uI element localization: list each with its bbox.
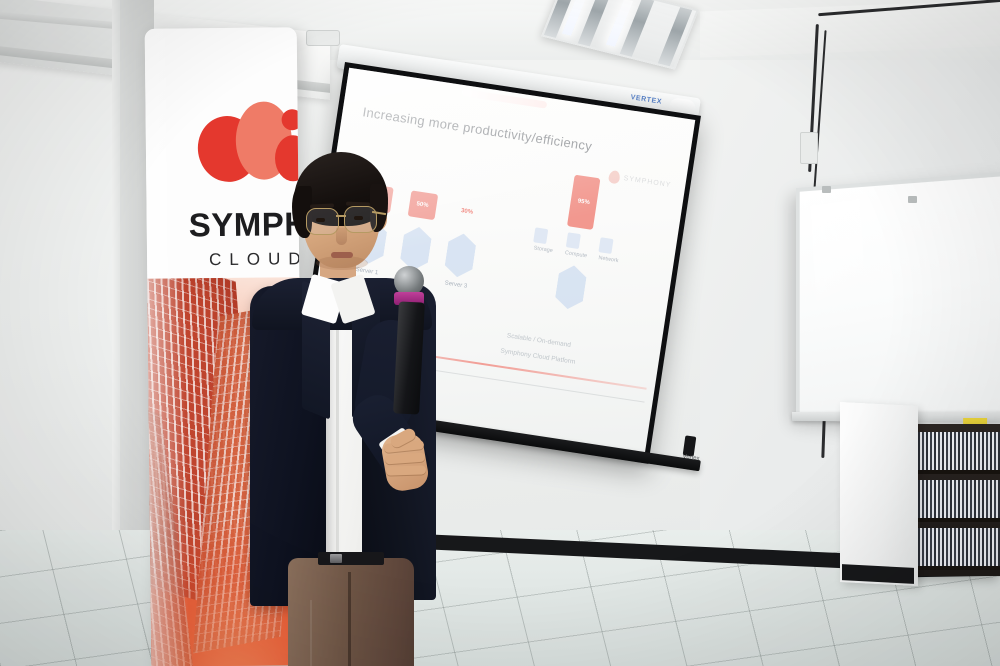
screen-brand-label: VERTEX: [630, 94, 662, 106]
slide-right-group-caption-2: Symphony Cloud Platform: [500, 348, 576, 366]
belt: [318, 552, 384, 565]
trousers: [288, 558, 414, 666]
wall-bracket: [306, 30, 340, 46]
slide-right-group-caption-1: Scalable / On-demand: [506, 332, 571, 349]
whiteboard[interactable]: [796, 171, 1000, 435]
shelf-row: [908, 528, 1000, 570]
presentation-room-photo: VERTEX Increasing more productivity/effi…: [0, 0, 1000, 666]
white-equipment-panel: [840, 402, 918, 586]
chin-shadow: [316, 256, 368, 270]
finger: [386, 465, 426, 475]
whiteboard-clip: [822, 186, 831, 193]
shelf-row: [908, 432, 1000, 474]
glasses-bridge: [336, 215, 346, 217]
trouser-fold: [310, 600, 312, 666]
whiteboard-glare: [810, 199, 869, 345]
mouth: [331, 252, 353, 258]
nose: [336, 228, 347, 245]
eye-left: [316, 218, 325, 222]
banner-gloss: [145, 28, 190, 666]
belt-buckle: [330, 554, 342, 563]
eye-right: [354, 216, 363, 220]
wall-cable-junction-box: [800, 132, 818, 164]
shelf-row: [908, 480, 1000, 522]
shirt-placket: [336, 300, 339, 560]
presenter: [244, 160, 474, 666]
trouser-seam: [348, 572, 351, 666]
whiteboard-clip: [908, 196, 917, 203]
